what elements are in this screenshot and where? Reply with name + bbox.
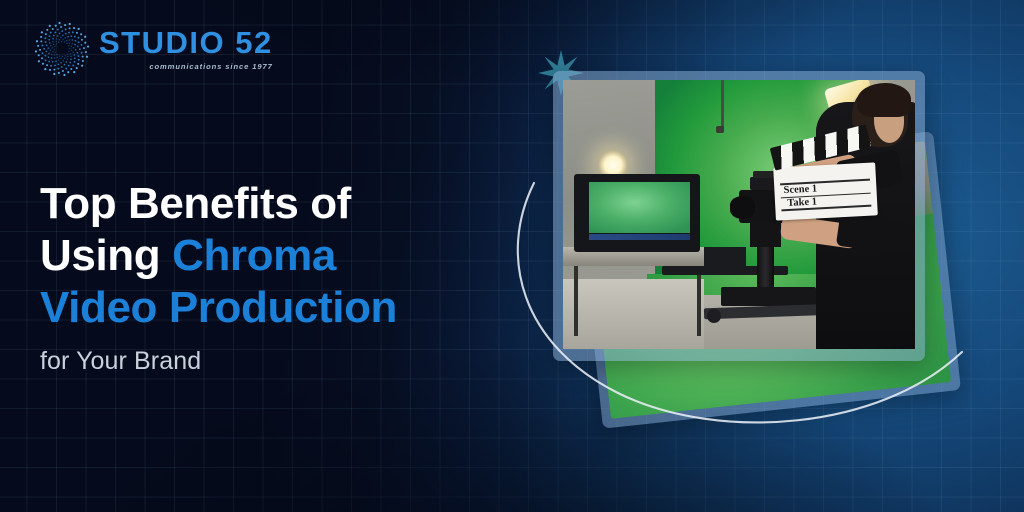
headline-line-3: Video Production xyxy=(40,282,510,334)
monitor-screen xyxy=(589,182,690,233)
crew-hair xyxy=(857,83,911,117)
studio-floor-left xyxy=(563,279,704,349)
logo-number: 52 xyxy=(235,25,272,60)
logo-wordmark: STUDIO 52 communications since 1977 xyxy=(99,27,273,71)
studio-monitor xyxy=(574,174,701,252)
clapperboard: Scene 1 Take 1 xyxy=(772,142,878,220)
photo-primary: Scene 1 Take 1 xyxy=(563,80,915,349)
clapperboard-slate: Scene 1 Take 1 xyxy=(773,162,878,220)
headline-line-2-accent: Chroma xyxy=(172,231,336,280)
table-leg-left xyxy=(574,266,578,336)
brand-logo[interactable]: STUDIO 52 communications since 1977 xyxy=(34,21,273,77)
backdrop-pole xyxy=(721,80,724,128)
clapperboard-rule-1 xyxy=(780,178,870,184)
tripod-column xyxy=(757,244,775,290)
page-title: Top Benefits of Using Chroma Video Produ… xyxy=(40,178,510,334)
monitor-taskbar xyxy=(589,234,690,239)
banner-canvas: STUDIO 52 communications since 1977 Top … xyxy=(0,0,1024,512)
headline-block: Top Benefits of Using Chroma Video Produ… xyxy=(40,178,510,376)
headline-line-2: Using Chroma xyxy=(40,230,510,282)
camera-dolly xyxy=(721,287,816,306)
tripod-head xyxy=(750,220,782,247)
clapperboard-scene-text: Scene 1 xyxy=(784,183,818,196)
logo-name: STUDIO 52 xyxy=(99,27,273,58)
clapperboard-take-text: Take 1 xyxy=(787,196,817,209)
headline-subline: for Your Brand xyxy=(40,346,510,376)
headline-line-1: Top Benefits of xyxy=(40,178,510,230)
headline-line-2-plain: Using xyxy=(40,231,172,280)
dolly-wheel xyxy=(707,309,721,323)
photo-frame-primary: Scene 1 Take 1 xyxy=(553,71,925,361)
table-leg-right xyxy=(697,266,701,336)
camera-lens xyxy=(730,196,755,219)
backdrop-clamp xyxy=(716,126,724,133)
logo-tagline: communications since 1977 xyxy=(149,62,272,71)
studio52-dot-burst-logo xyxy=(34,21,90,77)
